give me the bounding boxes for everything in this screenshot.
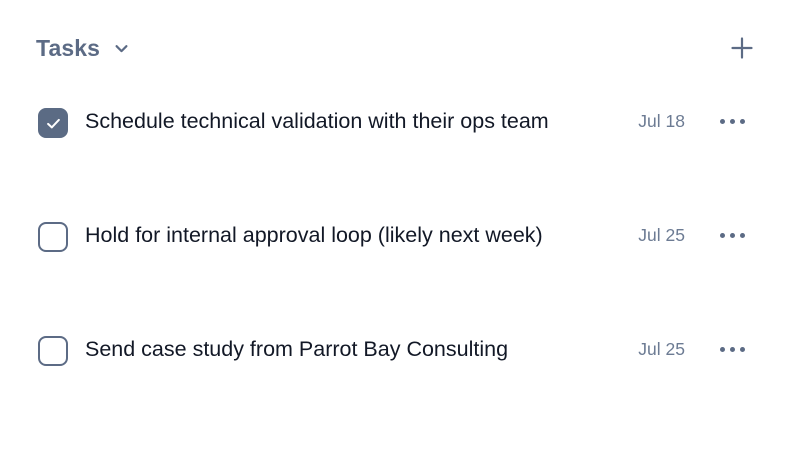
task-title[interactable]: Send case study from Parrot Bay Consulti…	[68, 324, 617, 368]
ellipsis-icon	[730, 233, 735, 238]
tasks-collapse-toggle[interactable]: Tasks	[36, 37, 130, 60]
task-title[interactable]: Schedule technical validation with their…	[68, 96, 617, 140]
ellipsis-icon	[720, 119, 725, 124]
task-due-date[interactable]: Jul 25	[617, 324, 685, 368]
task-overflow-menu-button[interactable]	[715, 216, 749, 254]
add-task-button[interactable]	[727, 33, 757, 63]
task-checkbox[interactable]	[38, 336, 68, 366]
ellipsis-icon	[720, 347, 725, 352]
ellipsis-icon	[720, 233, 725, 238]
task-list: Schedule technical validation with their…	[0, 96, 793, 438]
ellipsis-icon	[740, 347, 745, 352]
panel-title: Tasks	[36, 37, 100, 60]
plus-icon	[729, 35, 755, 61]
task-row[interactable]: Schedule technical validation with their…	[0, 96, 793, 210]
ellipsis-icon	[740, 233, 745, 238]
task-overflow-menu-button[interactable]	[715, 330, 749, 368]
task-checkbox[interactable]	[38, 108, 68, 138]
task-row[interactable]: Send case study from Parrot Bay Consulti…	[0, 324, 793, 438]
task-due-date[interactable]: Jul 18	[617, 96, 685, 140]
tasks-panel-header: Tasks	[0, 0, 793, 96]
ellipsis-icon	[730, 347, 735, 352]
task-overflow-menu-button[interactable]	[715, 102, 749, 140]
tasks-panel: Tasks Schedule technical validat	[0, 0, 793, 464]
task-checkbox[interactable]	[38, 222, 68, 252]
check-icon	[44, 114, 63, 133]
task-title[interactable]: Hold for internal approval loop (likely …	[68, 210, 617, 254]
ellipsis-icon	[730, 119, 735, 124]
task-row[interactable]: Hold for internal approval loop (likely …	[0, 210, 793, 324]
ellipsis-icon	[740, 119, 745, 124]
task-due-date[interactable]: Jul 25	[617, 210, 685, 254]
chevron-down-icon[interactable]	[113, 40, 130, 57]
